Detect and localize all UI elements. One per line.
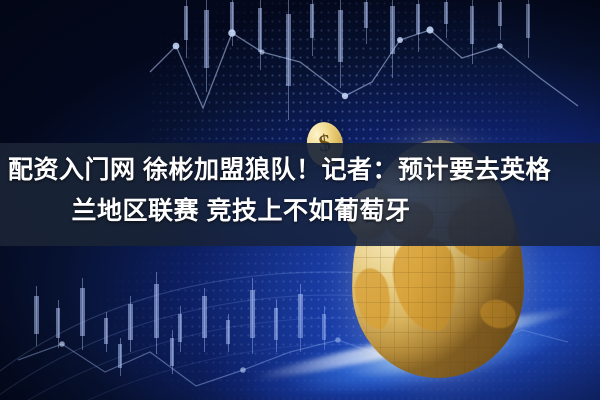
headline-text: 配资入门网 徐彬加盟狼队！记者：预计要去英格 兰地区联赛 竞技上不如葡萄牙 — [0, 150, 600, 232]
headline-line-1: 配资入门网 徐彬加盟狼队！记者：预计要去英格 — [8, 150, 592, 191]
banner-image: $ $ 配资入门网 徐彬加盟狼队！记者：预计要去英格 兰地区联赛 竞技上不如葡萄… — [0, 0, 600, 400]
headline-line-2: 兰地区联赛 竞技上不如葡萄牙 — [8, 191, 592, 232]
